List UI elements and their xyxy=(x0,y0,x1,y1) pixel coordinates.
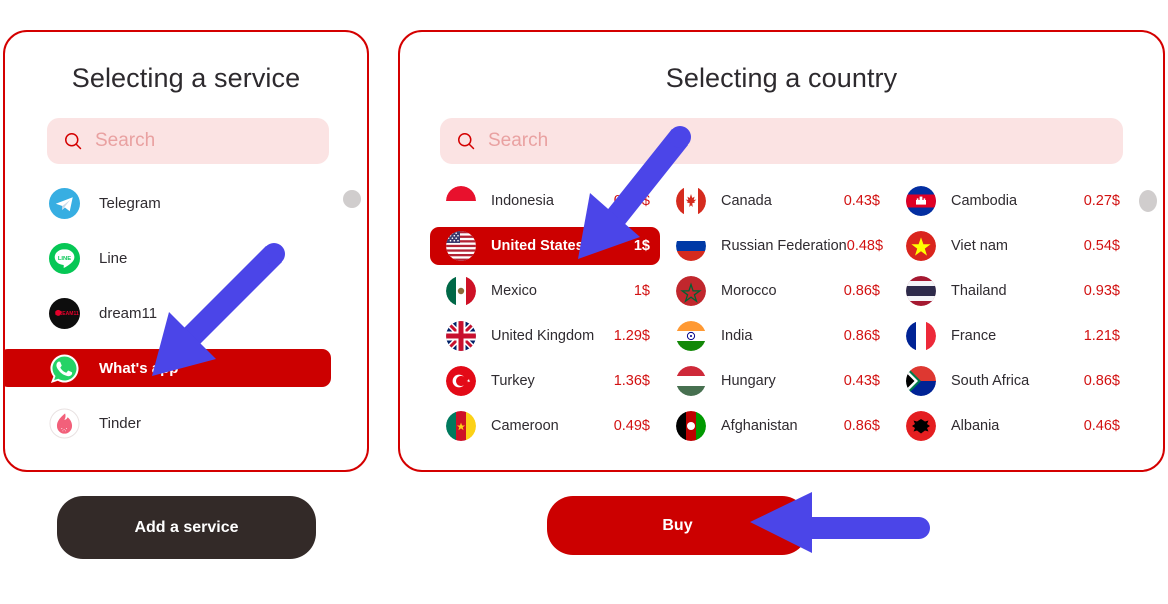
country-list-item[interactable]: Russian Federation0.48$ xyxy=(660,227,890,265)
country-panel: Selecting a country Search Indonesia0.86… xyxy=(398,30,1165,472)
country-list-item[interactable]: Afghanistan0.86$ xyxy=(660,407,890,445)
service-list-item[interactable]: LINELine xyxy=(5,239,367,277)
country-name: Hungary xyxy=(721,373,776,389)
flag-in xyxy=(676,321,706,351)
country-name: United States xyxy=(491,238,584,254)
flag-kh xyxy=(906,186,936,216)
country-panel-title: Selecting a country xyxy=(400,63,1163,94)
service-panel-title: Selecting a service xyxy=(5,63,367,94)
service-list-item[interactable]: What's app xyxy=(3,349,331,387)
whatsapp-icon xyxy=(49,353,80,384)
flag-hu xyxy=(676,366,706,396)
country-name: Canada xyxy=(721,193,772,209)
country-price: 0.54$ xyxy=(1084,238,1120,254)
service-search-box[interactable]: Search xyxy=(47,118,329,164)
flag-vn xyxy=(906,231,936,261)
service-list-item[interactable]: Telegram xyxy=(5,184,367,222)
add-service-button[interactable]: Add a service xyxy=(57,496,316,559)
country-price: 0.43$ xyxy=(844,193,880,209)
flag-ru xyxy=(676,231,706,261)
country-price: 0.86$ xyxy=(844,328,880,344)
country-search-placeholder: Search xyxy=(488,130,548,152)
svg-text:DREAM11: DREAM11 xyxy=(55,311,79,317)
service-scrollbar-thumb[interactable] xyxy=(343,190,361,208)
country-scrollbar-thumb[interactable] xyxy=(1139,190,1157,212)
country-list-item[interactable]: Cambodia0.27$ xyxy=(890,182,1130,220)
flag-gb xyxy=(446,321,476,351)
country-name: France xyxy=(951,328,996,344)
service-name: What's app xyxy=(99,360,178,377)
flag-th xyxy=(906,276,936,306)
search-icon xyxy=(456,131,476,151)
country-name: Russian Federation xyxy=(721,238,847,254)
country-list-item[interactable]: South Africa0.86$ xyxy=(890,362,1130,400)
country-price: 0.93$ xyxy=(1084,283,1120,299)
tinder-icon xyxy=(49,408,80,439)
country-name: Morocco xyxy=(721,283,777,299)
country-price: 0.48$ xyxy=(847,238,883,254)
service-list: TelegramLINELineDREAM11dream11What's app… xyxy=(5,184,367,442)
country-price: 1.36$ xyxy=(614,373,650,389)
flag-tr xyxy=(446,366,476,396)
search-icon xyxy=(63,131,83,151)
service-list-item[interactable]: Tinder xyxy=(5,404,367,442)
country-name: Cameroon xyxy=(491,418,559,434)
country-name: South Africa xyxy=(951,373,1029,389)
line-icon: LINE xyxy=(49,243,80,274)
country-list-item[interactable]: India0.86$ xyxy=(660,317,890,355)
country-price: 0.27$ xyxy=(1084,193,1120,209)
service-name: dream11 xyxy=(99,305,157,322)
service-name: Telegram xyxy=(99,195,161,212)
flag-id xyxy=(446,186,476,216)
buy-button[interactable]: Buy xyxy=(547,496,808,555)
flag-al xyxy=(906,411,936,441)
country-price: 1.21$ xyxy=(1084,328,1120,344)
country-name: Afghanistan xyxy=(721,418,798,434)
country-name: Viet nam xyxy=(951,238,1008,254)
country-name: India xyxy=(721,328,752,344)
country-name: Turkey xyxy=(491,373,535,389)
country-price: 0.86$ xyxy=(1084,373,1120,389)
country-list-item[interactable]: United Kingdom1.29$ xyxy=(430,317,660,355)
country-price: 1.29$ xyxy=(614,328,650,344)
telegram-icon xyxy=(49,188,80,219)
country-list-item[interactable]: United States1$ xyxy=(430,227,660,265)
flag-ca xyxy=(676,186,706,216)
country-price: 1$ xyxy=(634,238,650,254)
country-name: Thailand xyxy=(951,283,1007,299)
flag-ma xyxy=(676,276,706,306)
country-price: 0.49$ xyxy=(614,418,650,434)
country-name: Cambodia xyxy=(951,193,1017,209)
country-name: Albania xyxy=(951,418,999,434)
country-price: 0.86$ xyxy=(614,193,650,209)
country-list-item[interactable]: France1.21$ xyxy=(890,317,1130,355)
country-list-item[interactable]: Albania0.46$ xyxy=(890,407,1130,445)
app-root: Selecting a service Search TelegramLINEL… xyxy=(0,0,1168,604)
country-price: 1$ xyxy=(634,283,650,299)
service-panel: Selecting a service Search TelegramLINEL… xyxy=(3,30,369,472)
country-name: Indonesia xyxy=(491,193,554,209)
country-list-item[interactable]: Indonesia0.86$ xyxy=(430,182,660,220)
flag-za xyxy=(906,366,936,396)
flag-af xyxy=(676,411,706,441)
country-list-item[interactable]: Cameroon0.49$ xyxy=(430,407,660,445)
country-list-item[interactable]: Hungary0.43$ xyxy=(660,362,890,400)
service-name: Line xyxy=(99,250,127,267)
flag-mx xyxy=(446,276,476,306)
country-list-item[interactable]: Turkey1.36$ xyxy=(430,362,660,400)
country-search-box[interactable]: Search xyxy=(440,118,1123,164)
country-grid: Indonesia0.86$Canada0.43$Cambodia0.27$Un… xyxy=(400,182,1163,445)
flag-cm xyxy=(446,411,476,441)
country-list-item[interactable]: Viet nam0.54$ xyxy=(890,227,1130,265)
country-price: 0.46$ xyxy=(1084,418,1120,434)
country-price: 0.86$ xyxy=(844,418,880,434)
service-list-item[interactable]: DREAM11dream11 xyxy=(5,294,367,332)
country-list-item[interactable]: Thailand0.93$ xyxy=(890,272,1130,310)
country-price: 0.86$ xyxy=(844,283,880,299)
country-list-item[interactable]: Morocco0.86$ xyxy=(660,272,890,310)
country-name: United Kingdom xyxy=(491,328,594,344)
country-list-item[interactable]: Canada0.43$ xyxy=(660,182,890,220)
dream11-icon: DREAM11 xyxy=(49,298,80,329)
flag-us xyxy=(446,231,476,261)
svg-text:LINE: LINE xyxy=(58,255,71,261)
flag-fr xyxy=(906,321,936,351)
country-list-item[interactable]: Mexico1$ xyxy=(430,272,660,310)
service-search-placeholder: Search xyxy=(95,130,155,152)
service-name: Tinder xyxy=(99,415,141,432)
country-name: Mexico xyxy=(491,283,537,299)
country-price: 0.43$ xyxy=(844,373,880,389)
